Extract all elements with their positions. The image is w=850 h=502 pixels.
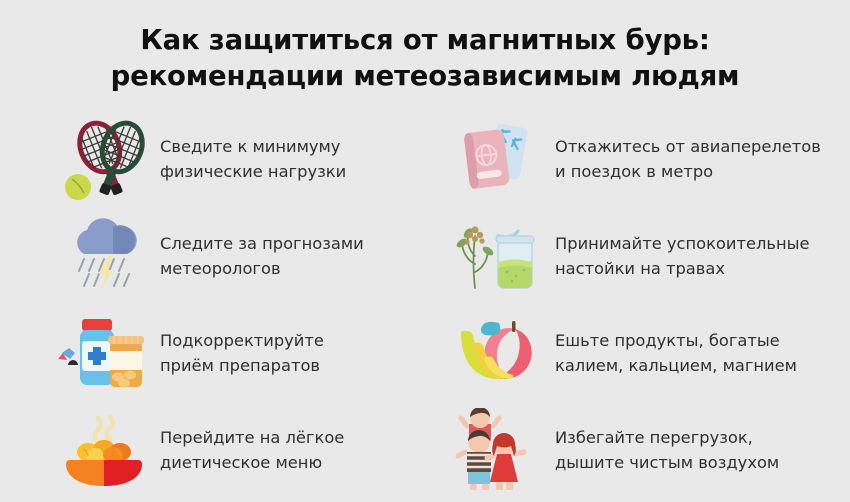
- passport-tickets-icon: [453, 117, 545, 201]
- tip-label: Перейдите на лёгкое диетическое меню: [160, 425, 344, 475]
- tip-item: Сведите к минимуму физические нагрузки: [58, 110, 453, 207]
- tip-label: Ешьте продукты, богатые калием, кальцием…: [555, 328, 797, 378]
- tip-label: Следите за прогнозами метеорологов: [160, 231, 364, 281]
- herbal-drink-icon: [453, 214, 545, 298]
- tip-label: Подкорректируйте приём препаратов: [160, 328, 324, 378]
- tip-label: Сведите к минимуму физические нагрузки: [160, 134, 346, 184]
- poster-title: Как защититься от магнитных бурь: рекоме…: [0, 0, 850, 94]
- medicine-bottles-icon: [58, 311, 150, 395]
- tips-grid: Сведите к минимуму физические нагрузки: [0, 110, 850, 498]
- rain-cloud-lightning-icon: [58, 214, 150, 298]
- hot-bowl-food-icon: [58, 408, 150, 492]
- tip-item: Принимайте успокоительные настойки на тр…: [453, 207, 848, 304]
- tip-item: Откажитесь от авиаперелетов и поездок в …: [453, 110, 848, 207]
- title-line-2: рекомендации метеозависимым людям: [0, 58, 850, 94]
- title-line-1: Как защититься от магнитных бурь:: [0, 22, 850, 58]
- tip-label: Избегайте перегрузок, дышите чистым возд…: [555, 425, 779, 475]
- tip-label: Принимайте успокоительные настойки на тр…: [555, 231, 810, 281]
- tip-item: Перейдите на лёгкое диетическое меню: [58, 401, 453, 498]
- bananas-apple-icon: [453, 311, 545, 395]
- children-playing-icon: [453, 408, 545, 492]
- tip-label: Откажитесь от авиаперелетов и поездок в …: [555, 134, 821, 184]
- tip-item: Следите за прогнозами метеорологов: [58, 207, 453, 304]
- tennis-rackets-icon: [58, 117, 150, 201]
- tip-item: Избегайте перегрузок, дышите чистым возд…: [453, 401, 848, 498]
- tip-item: Подкорректируйте приём препаратов: [58, 304, 453, 401]
- tip-item: Ешьте продукты, богатые калием, кальцием…: [453, 304, 848, 401]
- infographic-poster: Как защититься от магнитных бурь: рекоме…: [0, 0, 850, 502]
